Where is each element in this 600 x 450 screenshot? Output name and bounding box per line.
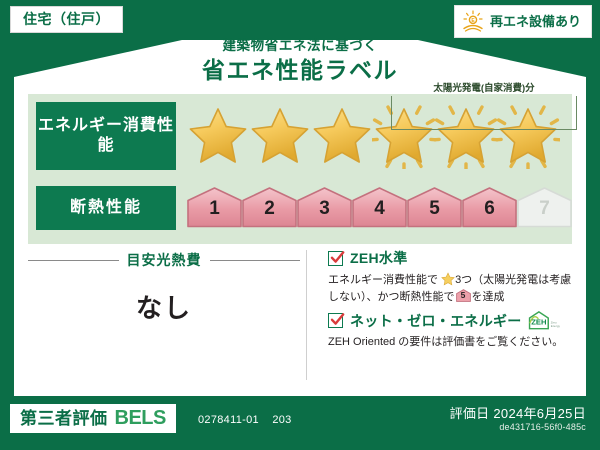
- bels-chip: 第三者評価 BELS: [10, 404, 176, 433]
- solar-bracket: [391, 96, 577, 130]
- zeh-desc-part-3: を達成: [472, 291, 505, 303]
- energy-performance-label: 住宅（住戸） E 再エネ設備あり 建築物省エネ法に基づく 省エネ性能ラベル: [0, 0, 600, 450]
- zeh-standard-header: ZEH水準: [328, 248, 578, 268]
- svg-text:Energy: Energy: [550, 324, 560, 328]
- lower-section: 目安光熱費 なし ZEH水準 エネルギー消費性能で 3つ（太陽: [28, 250, 572, 390]
- evaluation-date: 評価日 2024年6月25日: [450, 403, 586, 422]
- energy-star-rating: 太陽光発電(自家消費)分: [186, 102, 564, 172]
- zeh-logo-icon: ZEH Zero Energy: [527, 310, 561, 331]
- inline-insulation-badge-value: 5: [456, 291, 471, 300]
- star-icon: [248, 105, 312, 169]
- insulation-level-value: 6: [461, 199, 518, 218]
- insulation-level-badge: 7: [516, 186, 573, 228]
- insulation-level-badge: 4: [351, 186, 408, 228]
- house-type-badge: 住宅（住戸）: [10, 6, 123, 33]
- insulation-level-value: 2: [241, 199, 298, 218]
- inline-star-icon: [441, 272, 455, 286]
- svg-text:ZEH: ZEH: [531, 317, 546, 326]
- insulation-level-value: 1: [186, 199, 243, 218]
- title-subtitle: 建築物省エネ法に基づく: [0, 38, 600, 54]
- utility-cost-heading-text: 目安光熱費: [127, 250, 202, 270]
- net-zero-energy-title: ネット・ゼロ・エネルギー: [350, 311, 522, 331]
- zeh-desc-part-1: エネルギー消費性能で: [328, 274, 438, 286]
- net-zero-energy-checkbox[interactable]: [328, 313, 343, 328]
- insulation-level-scale: 1 2: [186, 184, 572, 232]
- renewable-badge-label: 再エネ設備あり: [490, 15, 581, 28]
- star-icon: [310, 105, 374, 169]
- insulation-level-value: 5: [406, 199, 463, 218]
- utility-cost-heading: 目安光熱費: [28, 250, 300, 270]
- insulation-level-badge: 6: [461, 186, 518, 228]
- zeh-standard-checkbox[interactable]: [328, 251, 343, 266]
- evaluation-id: de431716-56f0-485c: [499, 422, 586, 432]
- heading-rule-left: [28, 260, 119, 261]
- label-title: 建築物省エネ法に基づく 省エネ性能ラベル: [0, 38, 600, 85]
- utility-cost-value: なし: [28, 288, 300, 325]
- zeh-standard-title: ZEH水準: [350, 248, 408, 268]
- footer-bar: 第三者評価 BELS 0278411-01 203 評価日 2024年6月25日…: [0, 396, 600, 450]
- net-zero-energy-description: ZEH Oriented の要件は評価書をご覧ください。: [328, 335, 578, 351]
- inline-insulation-badge: 5: [456, 289, 471, 302]
- star-icon: [186, 105, 250, 169]
- solar-bracket-caption: 太陽光発電(自家消費)分: [391, 80, 577, 94]
- net-zero-energy-header: ネット・ゼロ・エネルギー ZEH Zero Energy: [328, 310, 578, 331]
- insulation-level-badge: 3: [296, 186, 353, 228]
- section-divider: [306, 250, 307, 380]
- insulation-level-value: 4: [351, 199, 408, 218]
- insulation-performance-row-label: 断熱性能: [36, 186, 176, 230]
- zeh-standard-description: エネルギー消費性能で 3つ（太陽光発電は考慮しない）、かつ断熱性能で 5 を達成: [328, 272, 578, 306]
- performance-panel: エネルギー消費性能 太陽光発電(自家消費)分: [28, 94, 572, 244]
- insulation-level-badge: 5: [406, 186, 463, 228]
- sun-icon: E: [461, 10, 485, 32]
- net-zero-energy-block: ネット・ゼロ・エネルギー ZEH Zero Energy ZEH Oriente…: [328, 310, 578, 351]
- insulation-level-value: 7: [516, 199, 573, 218]
- insulation-level-value: 3: [296, 199, 353, 218]
- heading-rule-right: [210, 260, 301, 261]
- zeh-standard-block: ZEH水準 エネルギー消費性能で 3つ（太陽光発電は考慮しない）、かつ断熱性能で…: [328, 248, 578, 306]
- renewable-equipment-badge: E 再エネ設備あり: [454, 5, 592, 38]
- bels-japanese-label: 第三者評価: [20, 410, 108, 427]
- insulation-level-badge: 1: [186, 186, 243, 228]
- bels-number: 0278411-01 203: [198, 414, 292, 426]
- insulation-level-badge: 2: [241, 186, 298, 228]
- energy-performance-row-label: エネルギー消費性能: [36, 102, 176, 170]
- bels-english-label: BELS: [115, 408, 166, 428]
